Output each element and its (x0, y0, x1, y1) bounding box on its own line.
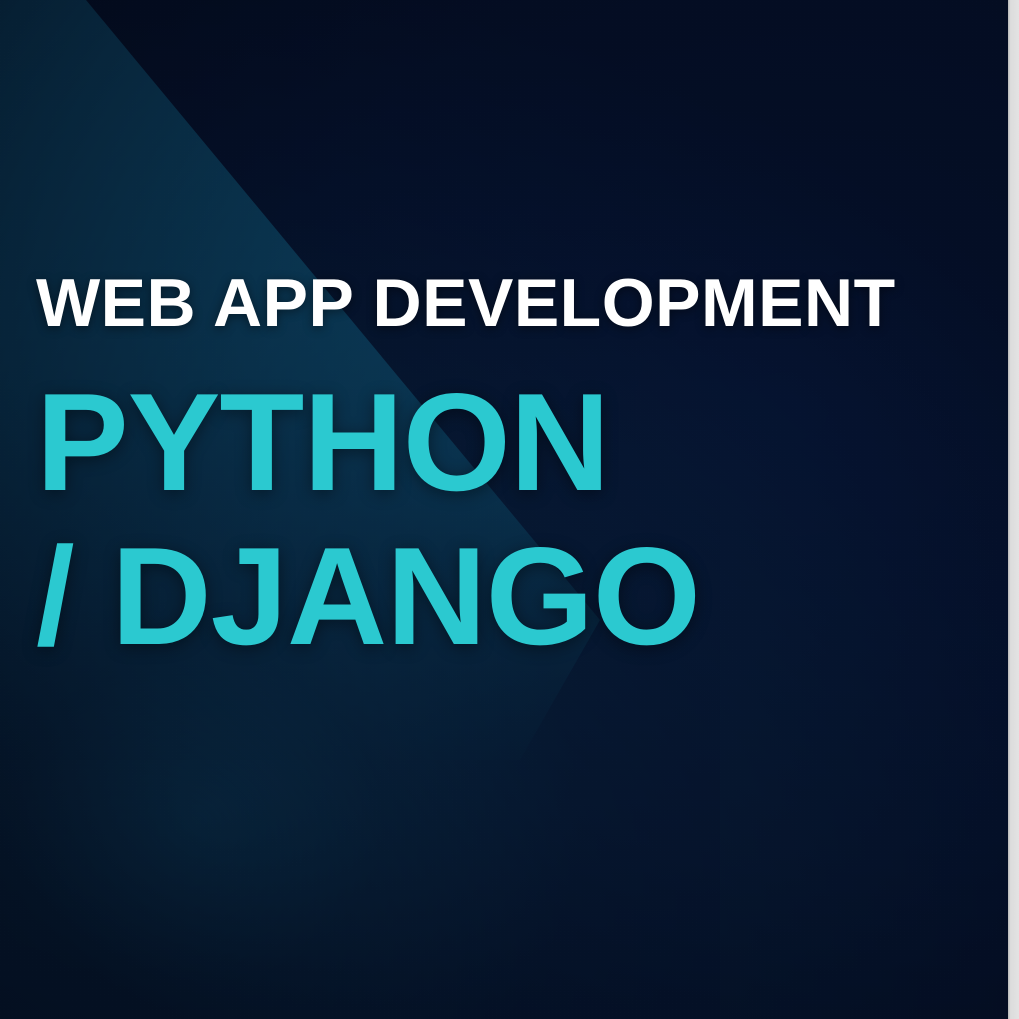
banner-headline-line-1: PYTHON (36, 361, 976, 525)
promo-banner-card: WEB APP DEVELOPMENT PYTHON / DJANGO (0, 0, 1008, 1019)
banner-eyebrow-text: WEB APP DEVELOPMENT (36, 268, 976, 339)
banner-headline-line-2: / DJANGO (36, 515, 976, 679)
banner-text-block: WEB APP DEVELOPMENT PYTHON / DJANGO (36, 268, 976, 679)
page-root: WEB APP DEVELOPMENT PYTHON / DJANGO (0, 0, 1019, 1019)
right-gutter-strip (1008, 0, 1019, 1019)
